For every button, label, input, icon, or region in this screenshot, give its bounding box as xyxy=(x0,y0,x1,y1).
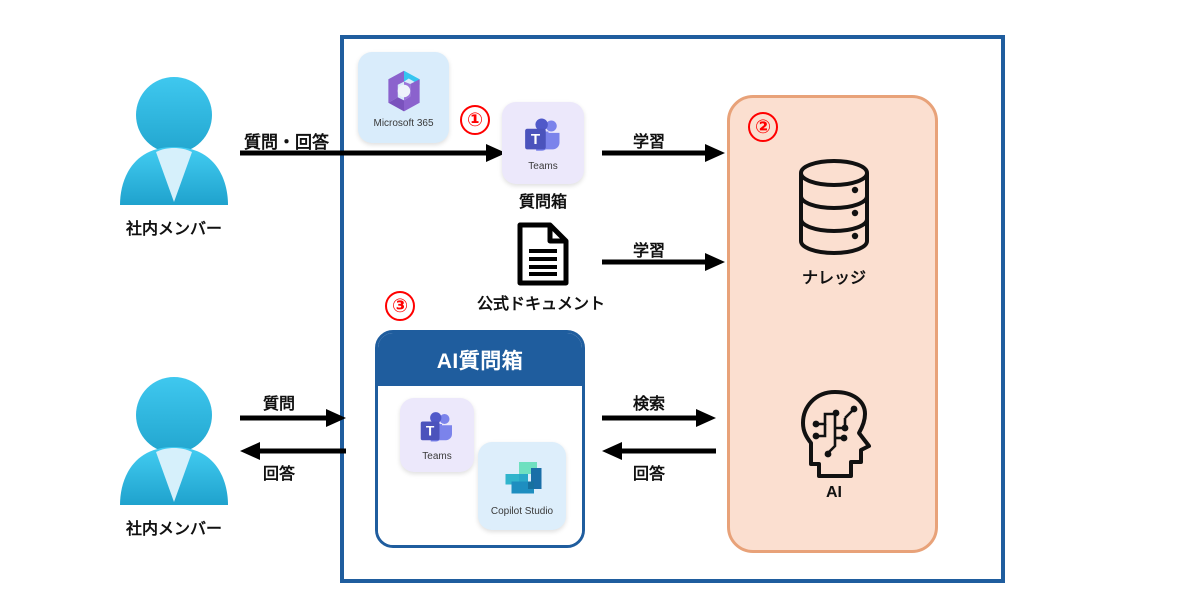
microsoft-365-icon xyxy=(379,66,429,116)
tile-copilot-studio[interactable]: Copilot Studio xyxy=(478,442,566,530)
tile-label-teams-top: Teams xyxy=(528,161,557,172)
teams-icon: T xyxy=(417,409,457,449)
arrow-top-question-answer xyxy=(238,140,510,166)
arrow-search xyxy=(600,405,718,431)
arrow-label-bottom-answer: 回答 xyxy=(263,460,295,484)
arrow-label-response: 回答 xyxy=(633,460,665,484)
ai-brain-head-icon xyxy=(795,388,875,484)
ai-question-box-title: AI質問箱 xyxy=(437,345,524,375)
node-label-question-box: 質問箱 xyxy=(502,188,584,212)
svg-text:T: T xyxy=(426,423,435,438)
person-icon-top xyxy=(112,72,236,207)
tile-label-teams-bottom: Teams xyxy=(422,451,451,462)
person-label-bottom: 社内メンバー xyxy=(113,515,235,539)
ai-question-box-header: AI質問箱 xyxy=(378,333,582,386)
arrow-bottom-question xyxy=(238,405,348,431)
official-document-icon xyxy=(516,222,570,286)
tile-label-copilot-studio: Copilot Studio xyxy=(491,506,553,517)
tile-label-microsoft-365: Microsoft 365 xyxy=(373,118,433,129)
diagram-canvas: 社内メンバー 質問・回答 Microsoft 365 ① T Teams 質問 xyxy=(0,0,1200,600)
arrow-learn-from-document xyxy=(600,249,728,275)
node-label-ai: AI xyxy=(760,484,908,502)
teams-icon: T xyxy=(521,115,565,159)
tile-teams-question-box[interactable]: T Teams xyxy=(502,102,584,184)
ai-question-box-body: T Teams Copilot Studio xyxy=(378,386,582,548)
copilot-studio-icon xyxy=(498,456,546,504)
step-badge-2: ② xyxy=(748,112,778,142)
svg-text:T: T xyxy=(531,130,541,147)
tile-teams-inside-ai-box[interactable]: T Teams xyxy=(400,398,474,472)
tile-microsoft-365[interactable]: Microsoft 365 xyxy=(358,52,449,143)
arrow-learn-from-teams xyxy=(600,140,728,166)
step-badge-1: ① xyxy=(460,105,490,135)
person-label-top: 社内メンバー xyxy=(113,215,235,239)
knowledge-database-icon xyxy=(797,158,871,256)
person-icon-bottom xyxy=(112,372,236,507)
step-badge-3: ③ xyxy=(385,291,415,321)
ai-question-box-card: AI質問箱 T Teams xyxy=(375,330,585,548)
node-label-knowledge: ナレッジ xyxy=(760,264,908,288)
node-label-official-document: 公式ドキュメント xyxy=(477,290,605,314)
